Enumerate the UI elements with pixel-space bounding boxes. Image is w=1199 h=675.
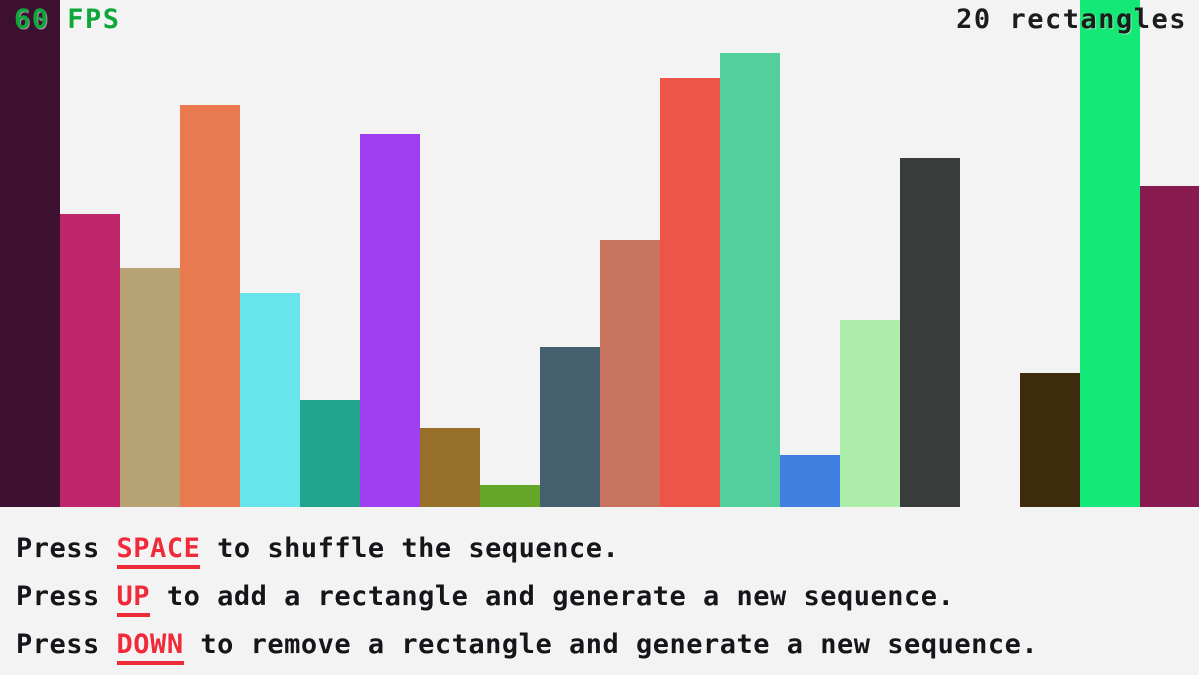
instruction-line: Press UP to add a rectangle and generate…	[16, 573, 1199, 621]
bar-rect	[420, 428, 480, 507]
instruction-line: Press DOWN to remove a rectangle and gen…	[16, 621, 1199, 669]
instruction-prefix: Press	[16, 581, 117, 612]
key-badge-up[interactable]: UP	[117, 581, 151, 617]
bar-rect	[660, 78, 720, 507]
bar-rect	[240, 293, 300, 507]
bar-rect	[540, 347, 600, 507]
bar-rect	[1080, 0, 1140, 507]
instruction-line: Press SPACE to shuffle the sequence.	[16, 525, 1199, 573]
instruction-suffix: to add a rectangle and generate a new se…	[150, 581, 954, 612]
instruction-prefix: Press	[16, 629, 117, 660]
instruction-prefix: Press	[16, 533, 117, 564]
bar-rect	[1020, 373, 1080, 507]
bar-rect	[840, 320, 900, 507]
key-badge-space[interactable]: SPACE	[117, 533, 201, 569]
bar-rect	[720, 53, 780, 507]
rectangles-demo-app: 60 FPS 20 rectangles Press SPACE to shuf…	[0, 0, 1199, 675]
bar-rect	[180, 105, 240, 507]
bar-rect	[1140, 186, 1199, 507]
instruction-suffix: to shuffle the sequence.	[200, 533, 619, 564]
bar-rect	[900, 158, 960, 507]
bar-rect	[360, 134, 420, 507]
bar-rect	[780, 455, 840, 507]
instruction-suffix: to remove a rectangle and generate a new…	[184, 629, 1039, 660]
bar-chart-canvas[interactable]	[0, 0, 1199, 507]
bar-rect	[60, 214, 120, 507]
bar-rect	[120, 268, 180, 507]
rectangle-count-readout: 20 rectangles	[956, 6, 1187, 33]
instructions-panel: Press SPACE to shuffle the sequence.Pres…	[0, 507, 1199, 675]
key-badge-down[interactable]: DOWN	[117, 629, 184, 665]
bar-rect	[0, 0, 60, 507]
bar-rect	[300, 400, 360, 507]
bar-rect	[600, 240, 660, 507]
bar-rect	[480, 485, 540, 507]
fps-readout: 60 FPS	[14, 6, 121, 33]
